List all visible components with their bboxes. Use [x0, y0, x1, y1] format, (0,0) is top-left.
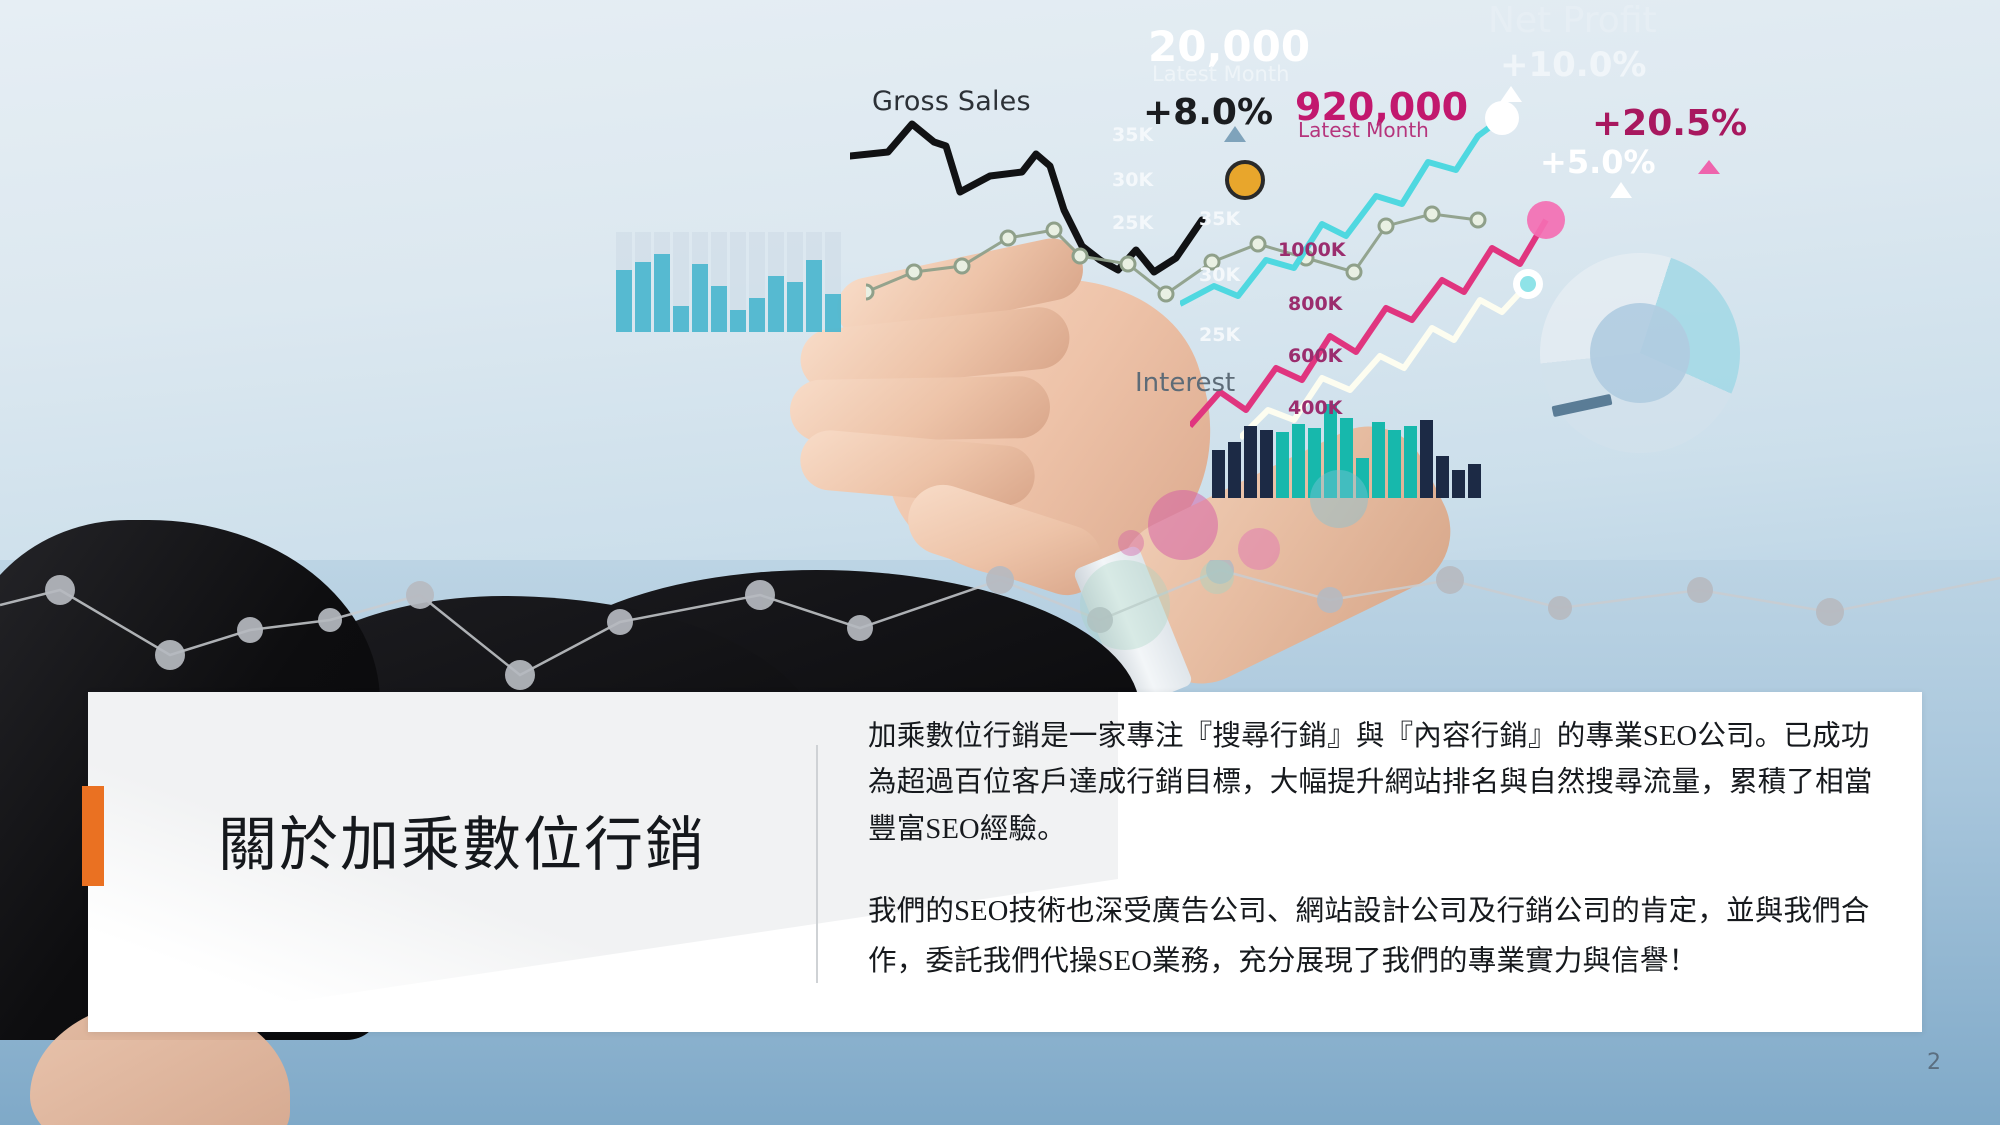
body-paragraph-1: 加乘數位行銷是一家專注『搜尋行銷』與『內容行銷』的專業SEO公司。已成功為超過百… [868, 714, 1878, 853]
axis-tick-mid-30k: 30K [1199, 264, 1240, 286]
axis-tick-left-25k: 25K [1112, 212, 1153, 234]
left-bar-chart [614, 232, 854, 337]
metric-revenue-change: +20.5% [1592, 103, 1747, 144]
slide-canvas: Gross Sales Interest 20,000 Latest Month… [0, 0, 2000, 1125]
label-gross-sales: Gross Sales [872, 86, 1031, 117]
up-triangle-mid [1500, 86, 1522, 102]
body-paragraph-2: 我們的SEO技術也深受廣告公司、網站設計公司及行銷公司的肯定，並與我們合作，委託… [868, 887, 1878, 987]
label-net-profit: Net Profit [1488, 0, 1657, 41]
accent-bar [82, 786, 104, 886]
orange-marker-dot [1225, 160, 1265, 200]
body-text-block: 加乘數位行銷是一家專注『搜尋行銷』與『內容行銷』的專業SEO公司。已成功為超過百… [868, 714, 1878, 987]
label-latest-month-1: Latest Month [1152, 62, 1289, 86]
donut-chart [1540, 253, 1740, 453]
metric-gross-change: +8.0% [1143, 92, 1273, 133]
metric-secondary-change: +5.0% [1540, 143, 1656, 181]
axis-tick-right-800k: 800K [1288, 293, 1342, 315]
label-latest-month-2: Latest Month [1298, 118, 1429, 142]
bubble-3 [1118, 530, 1144, 556]
page-title: 關於加乘數位行銷 [142, 790, 782, 900]
up-triangle-right [1610, 182, 1632, 198]
bubble-2 [1238, 528, 1280, 570]
axis-tick-left-35k: 35K [1112, 124, 1153, 146]
bubble-5 [1200, 560, 1234, 594]
axis-tick-right-1000k: 1000K [1278, 239, 1346, 261]
axis-tick-mid-35k: 35K [1199, 208, 1240, 230]
bubble-1 [1148, 490, 1218, 560]
axis-tick-left-30k: 30K [1112, 169, 1153, 191]
page-number: 2 [1927, 1050, 1941, 1075]
label-interest: Interest [1135, 368, 1235, 398]
metric-net-change: +10.0% [1500, 45, 1646, 85]
bubble-6 [1080, 560, 1170, 650]
axis-tick-mid-25k: 25K [1199, 324, 1240, 346]
up-triangle-pink [1698, 160, 1720, 174]
vertical-divider [816, 745, 818, 983]
axis-tick-right-600k: 600K [1288, 345, 1342, 367]
axis-tick-right-400k: 400K [1288, 397, 1342, 419]
bubble-4 [1310, 470, 1368, 528]
